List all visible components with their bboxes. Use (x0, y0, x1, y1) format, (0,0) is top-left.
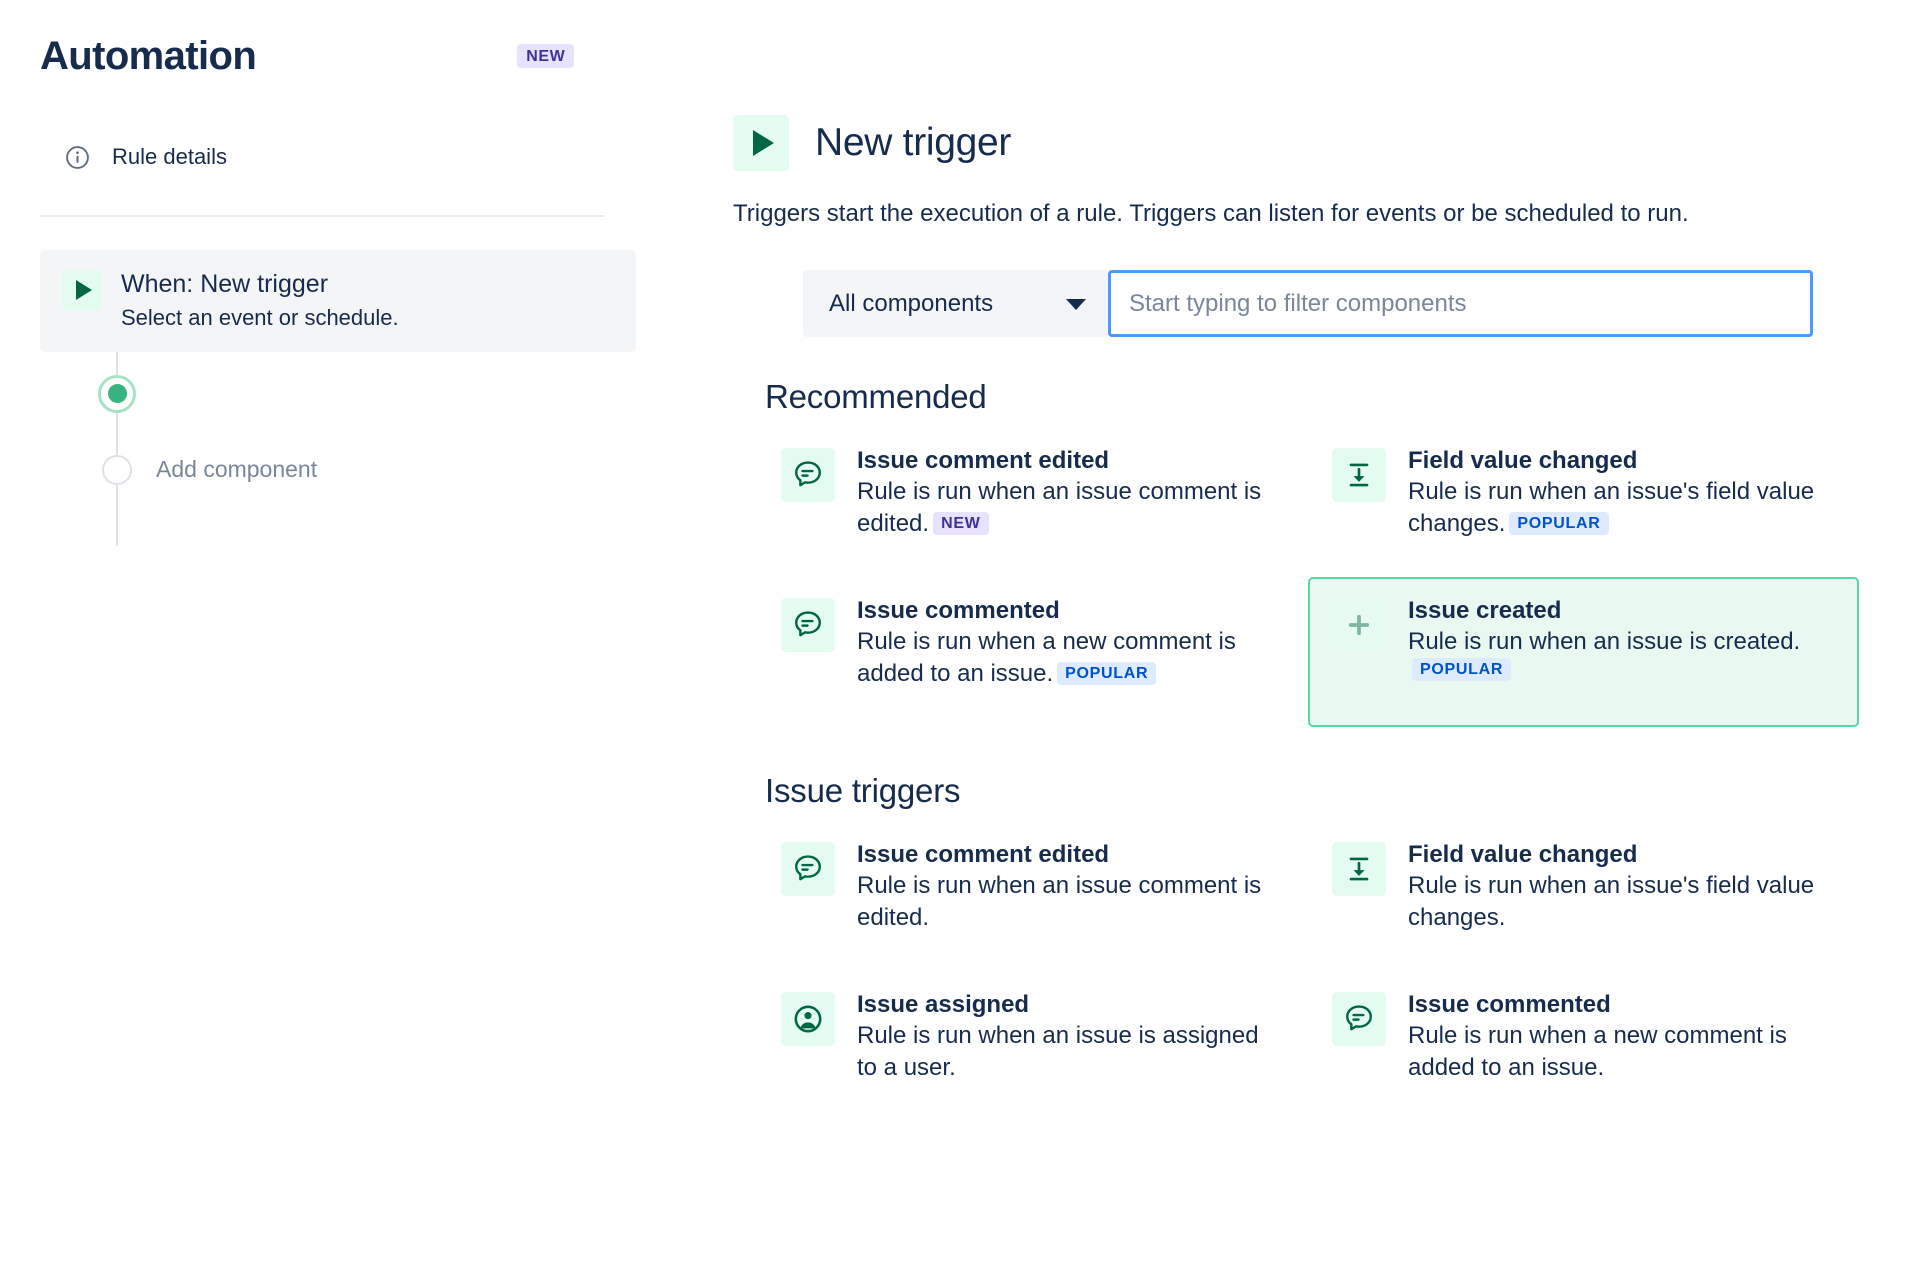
trigger-card-title: When: New trigger (121, 269, 399, 299)
trigger-card-issue-comment-edited[interactable]: Issue comment edited Rule is run when an… (757, 427, 1308, 577)
timeline-trigger-card[interactable]: When: New trigger Select an event or sch… (40, 250, 636, 352)
component-filter-bar: All components (803, 270, 1813, 337)
person-circle-icon (781, 992, 835, 1046)
trigger-card-description: Rule is run when an issue is created. (1408, 628, 1800, 655)
rule-details-label: Rule details (112, 144, 227, 170)
page-title: Automation (40, 34, 256, 78)
comment-bubble-icon (781, 598, 835, 652)
trigger-card-title: Field value changed (1408, 446, 1835, 476)
component-type-select[interactable]: All components (803, 270, 1108, 337)
field-value-changed-icon (1332, 448, 1386, 502)
comment-bubble-icon (1332, 992, 1386, 1046)
trigger-card-field-value-changed[interactable]: Field value changed Rule is run when an … (1308, 427, 1859, 577)
panel-title: New trigger (815, 121, 1011, 165)
trigger-card-field-value-changed-2[interactable]: Field value changed Rule is run when an … (1308, 821, 1859, 971)
component-filter-input[interactable] (1108, 270, 1813, 337)
timeline-node-empty-icon (102, 455, 132, 485)
rule-builder-sidebar: Automation NEW Rule details When (0, 0, 645, 1276)
trigger-card-description: Rule is run when an issue's field value … (1408, 872, 1814, 931)
status-badge-popular: POPULAR (1057, 662, 1156, 685)
trigger-card-title: Issue created (1408, 596, 1835, 626)
trigger-card-title: Issue commented (1408, 990, 1835, 1020)
chevron-down-icon (1066, 299, 1086, 310)
status-badge-popular: POPULAR (1412, 658, 1511, 681)
sidebar-item-rule-details[interactable]: Rule details (40, 139, 605, 175)
trigger-card-issue-commented[interactable]: Issue commented Rule is run when a new c… (757, 577, 1308, 727)
comment-bubble-icon (781, 448, 835, 502)
header-new-badge: NEW (517, 44, 574, 69)
rule-timeline: When: New trigger Select an event or sch… (40, 250, 605, 485)
add-component-button[interactable]: Add component (98, 455, 605, 485)
play-triangle-icon (62, 270, 102, 310)
app-header: Automation NEW (40, 26, 605, 86)
trigger-card-description: Rule is run when an issue comment is edi… (857, 478, 1261, 537)
field-value-changed-icon (1332, 842, 1386, 896)
trigger-card-title: Issue commented (857, 596, 1284, 626)
recommended-cards-grid: Issue comment edited Rule is run when an… (757, 427, 1878, 727)
trigger-picker-panel: New trigger Triggers start the execution… (645, 0, 1918, 1276)
trigger-card-title: Issue assigned (857, 990, 1284, 1020)
status-badge-popular: POPULAR (1509, 512, 1608, 535)
trigger-card-issue-commented-2[interactable]: Issue commented Rule is run when a new c… (1308, 971, 1859, 1121)
panel-description: Triggers start the execution of a rule. … (733, 198, 1878, 229)
trigger-card-title: Field value changed (1408, 840, 1835, 870)
timeline-node-active[interactable] (98, 375, 136, 413)
trigger-card-description: Rule is run when a new comment is added … (857, 628, 1236, 687)
comment-bubble-icon (781, 842, 835, 896)
play-triangle-icon (733, 115, 789, 171)
issue-triggers-cards-grid: Issue comment edited Rule is run when an… (757, 821, 1878, 1121)
component-type-select-value: All components (829, 290, 993, 318)
sidebar-divider (40, 215, 605, 217)
info-circle-icon (65, 145, 90, 170)
plus-icon (1332, 598, 1386, 652)
trigger-card-title: Issue comment edited (857, 840, 1284, 870)
section-title-issue-triggers: Issue triggers (765, 772, 1878, 810)
status-badge-new: NEW (933, 512, 988, 535)
trigger-card-description: Rule is run when a new comment is added … (1408, 1022, 1787, 1081)
panel-header: New trigger (733, 115, 1878, 171)
trigger-card-issue-comment-edited-2[interactable]: Issue comment edited Rule is run when an… (757, 821, 1308, 971)
trigger-card-issue-created[interactable]: Issue created Rule is run when an issue … (1308, 577, 1859, 727)
trigger-card-issue-assigned[interactable]: Issue assigned Rule is run when an issue… (757, 971, 1308, 1121)
timeline-node-dot (108, 384, 127, 403)
trigger-card-description: Rule is run when an issue comment is edi… (857, 872, 1261, 931)
trigger-card-title: Issue comment edited (857, 446, 1284, 476)
add-component-label: Add component (156, 456, 317, 483)
section-title-recommended: Recommended (765, 378, 1878, 416)
trigger-card-subtitle: Select an event or schedule. (121, 304, 399, 332)
automation-trigger-picker-page: Automation NEW Rule details When (0, 0, 1918, 1276)
trigger-card-description: Rule is run when an issue's field value … (1408, 478, 1814, 537)
trigger-card-description: Rule is run when an issue is assigned to… (857, 1022, 1259, 1081)
